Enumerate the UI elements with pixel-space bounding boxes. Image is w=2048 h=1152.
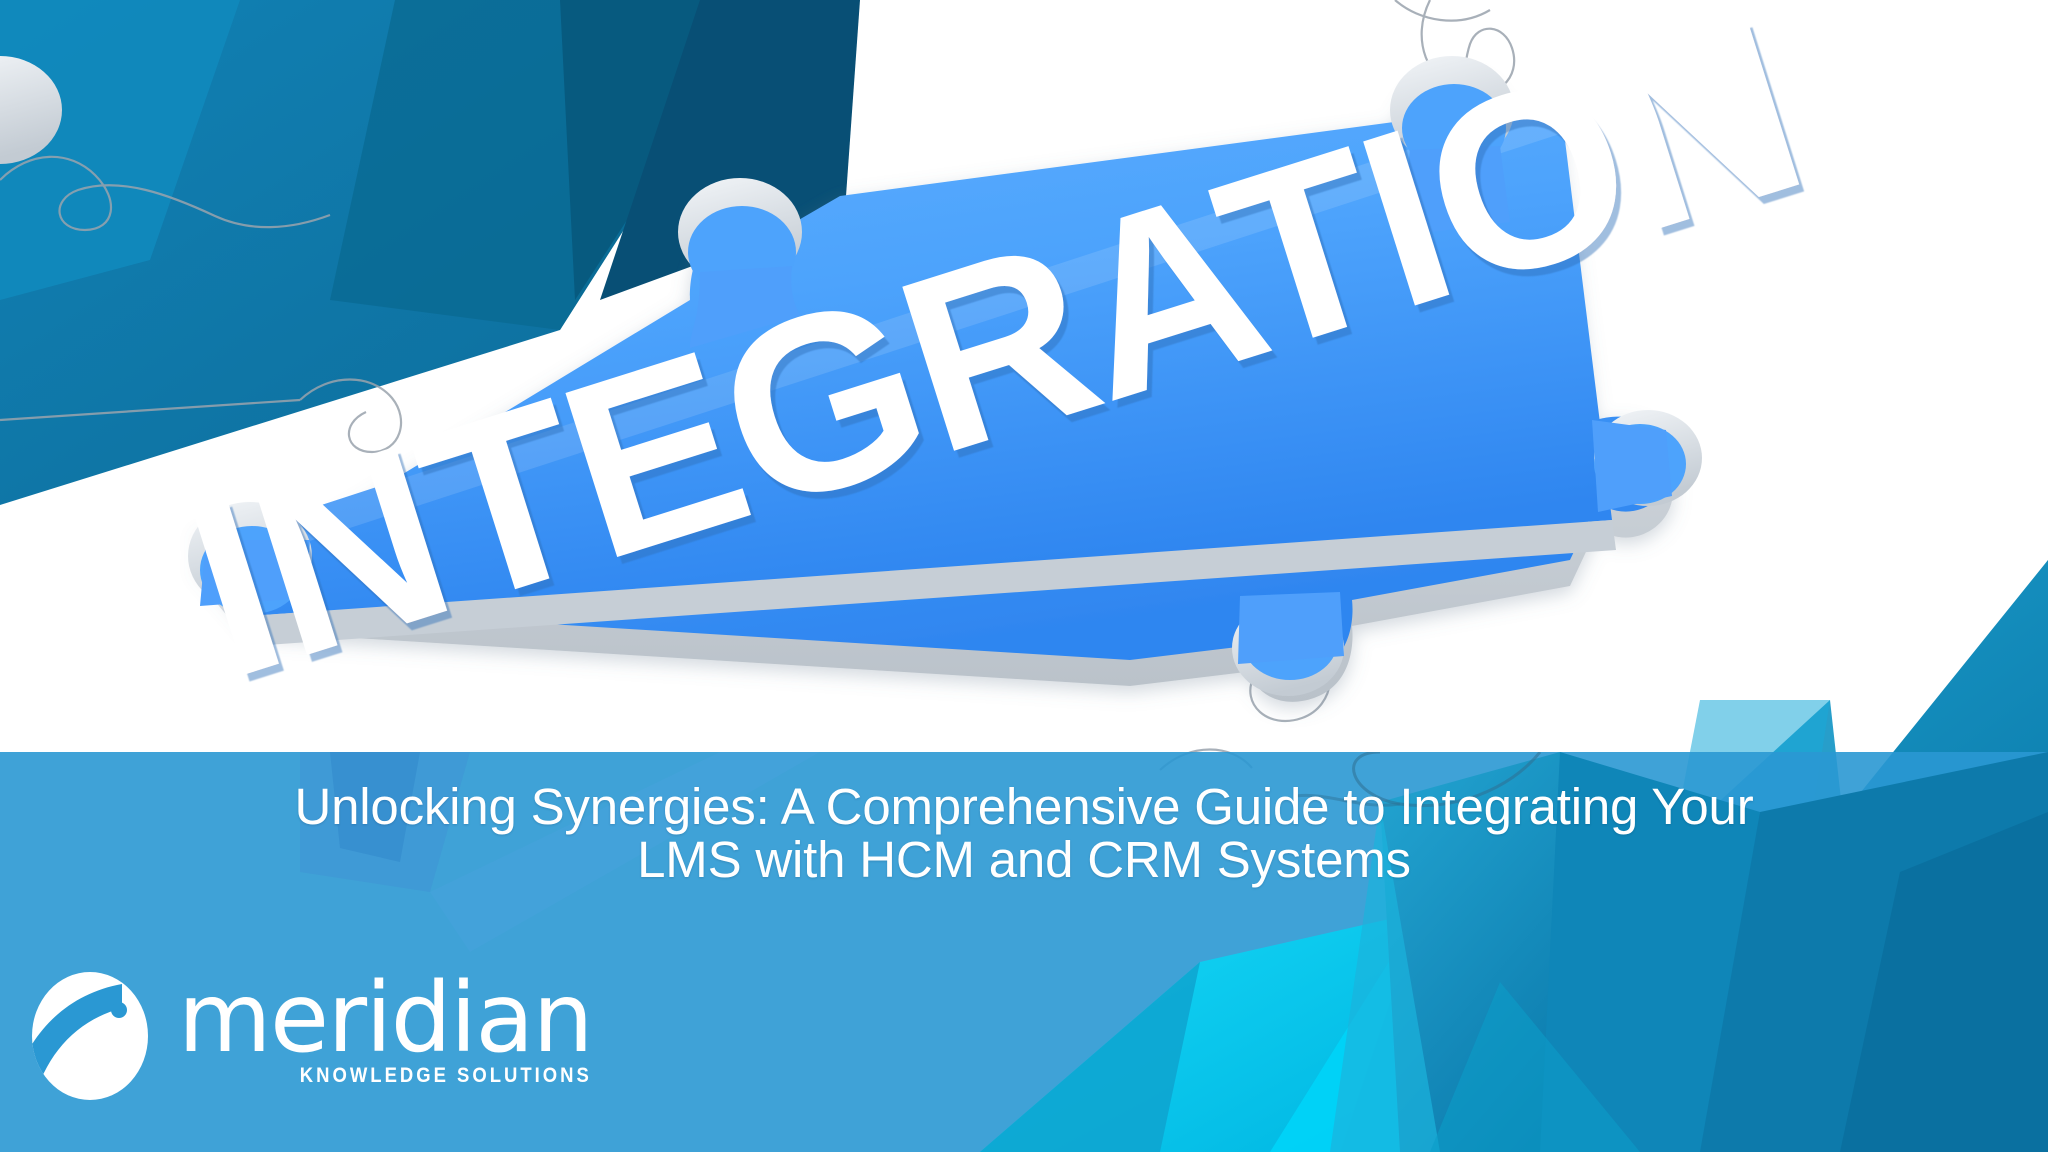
meridian-globe-icon (26, 968, 154, 1104)
brand-wordmark: meridian (178, 974, 592, 1062)
brand-tagline: KNOWLEDGE SOLUTIONS (300, 1064, 592, 1088)
blog-hero-banner: INTEGRATION (0, 0, 2048, 1152)
brand-text-group: meridian KNOWLEDGE SOLUTIONS (178, 968, 592, 1088)
page-title: Unlocking Synergies: A Comprehensive Gui… (32, 780, 2016, 886)
title-block: Unlocking Synergies: A Comprehensive Gui… (0, 780, 2048, 886)
brand-logo[interactable]: meridian KNOWLEDGE SOLUTIONS (26, 968, 592, 1104)
